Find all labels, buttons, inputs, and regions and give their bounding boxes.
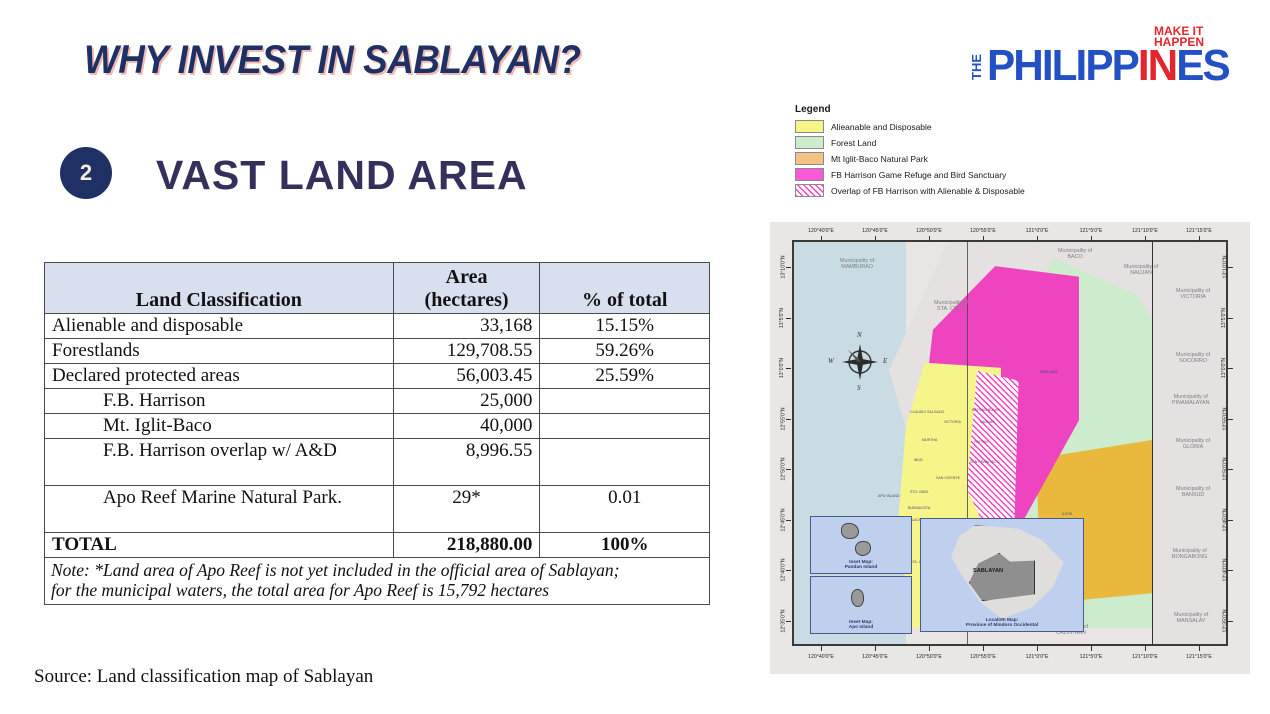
lon-tick-bottom: 120°50'0"E [916,654,942,660]
legend-swatch-icon [795,184,824,197]
table-header-row: Land Classification Area (hectares) % of… [45,263,710,314]
legend-item-label: Mt Iglit-Baco Natural Park [831,154,928,164]
section-number-badge: 2 [60,147,112,199]
legend-title: Legend [795,104,1055,115]
column-header-area-line1: Area [401,266,533,289]
inset-map-pandan-island: Inset Map:Pandan Island [810,516,912,574]
map-barangay-label: STO. NINO [910,490,928,494]
legend-item: Alieanable and Disposable [795,120,1055,133]
cell-percent: 25.59% [540,364,710,389]
lon-tick-bottom: 121°10'0"E [1132,654,1158,660]
logo-wordmark: PHILIPPINES [987,44,1229,88]
cell-area: 8,996.55 [393,439,540,486]
map-barangay-label: PAETAN [974,440,988,444]
cell-percent: 0.01 [540,486,710,533]
map-label-naujan: Municipality ofNAUJAN [1124,264,1158,277]
legend-item: FB Harrison Game Refuge and Bird Sanctua… [795,168,1055,181]
legend-item-label: Forest Land [831,138,876,148]
lon-tick-top: 121°10'0"E [1132,228,1158,234]
legend-item: Forest Land [795,136,1055,149]
land-classification-table: Land Classification Area (hectares) % of… [44,262,710,605]
lon-tick-top: 120°50'0"E [916,228,942,234]
map-barangay-label: VICTORIA [944,420,961,424]
legend-swatch-icon [795,136,824,149]
legend-swatch-icon [795,152,824,165]
page-title: WHY INVEST IN SABLAYAN? [84,38,580,83]
compass-label-n: N [857,331,862,339]
map-label-pinamalayan: Municipality ofPINAMALAYAN [1172,394,1210,407]
compass-rose-icon: N E S W [838,340,882,384]
lon-tick-top: 120°40'0"E [808,228,834,234]
cell-land-classification: Mt. Iglit-Baco [45,414,394,439]
table-note-line1: Note: *Land area of Apo Reef is not yet … [51,560,703,580]
map-barangay-label: CLAUDIO SALGADO [910,410,944,414]
lon-tick-bottom: 120°40'0"E [808,654,834,660]
lon-tick-bottom: 120°45'0"E [862,654,888,660]
cell-area: 33,168 [393,314,540,339]
table-row: Apo Reef Marine Natural Park.29*0.01 [45,486,710,533]
table-body: Alienable and disposable33,16815.15%Fore… [45,314,710,605]
map-barangay-label: APO ISLAND [878,494,900,498]
map-label-socorro: Municipality ofSOCORRO [1176,352,1210,365]
table-note-line2: for the municipal waters, the total area… [51,580,703,600]
legend-item-label: Alieanable and Disposable [831,122,932,132]
table-row: Declared protected areas56,003.4525.59% [45,364,710,389]
cell-land-classification: F.B. Harrison [45,389,394,414]
lon-tick-bottom: 120°55'0"E [970,654,996,660]
lon-tick-top: 121°15'0"E [1186,228,1212,234]
lon-tick-top: 121°5'0"E [1080,228,1103,234]
logo-word-highlight: IN [1138,41,1176,90]
cell-land-classification: Forestlands [45,339,394,364]
cell-percent: 59.26% [540,339,710,364]
brand-logo: THE MAKE IT HAPPEN PHILIPPINES [970,28,1240,86]
cell-percent: 15.15% [540,314,710,339]
map-label-victoria: Municipality ofVICTORIA [1176,288,1210,301]
lat-tick-left: 13°0'0"N [779,358,785,378]
table-source-note: Source: Land classification map of Sabla… [34,666,373,688]
compass-label-e: E [883,357,887,365]
table-row: Alienable and disposable33,16815.15% [45,314,710,339]
cell-land-classification: F.B. Harrison overlap w/ A&D [45,439,394,486]
map-frame: Municipality ofMAMBURAO Municipality ofS… [792,240,1228,646]
table-note: Note: *Land area of Apo Reef is not yet … [45,558,710,605]
cell-area: 40,000 [393,414,540,439]
cell-area: 29* [393,486,540,533]
lon-tick-bottom: 121°0'0"E [1026,654,1049,660]
sablayan-land-classification-map: Municipality ofMAMBURAO Municipality ofS… [770,222,1250,674]
cell-total-area: 218,880.00 [393,533,540,558]
map-label-mansalay: Municipality ofMANSALAY [1174,612,1208,625]
map-barangay-label: LAGNAS [980,420,995,424]
map-barangay-label: ILVITA [1062,512,1072,516]
legend-item-label: FB Harrison Game Refuge and Bird Sanctua… [831,170,1006,180]
lon-tick-top: 120°55'0"E [970,228,996,234]
section-heading: VAST LAND AREA [156,152,528,199]
legend-item: Overlap of FB Harrison with Alienable & … [795,184,1055,197]
map-label-bongabong: Municipality ofBONGABONG [1172,548,1207,561]
map-barangay-label: MURTHA [922,438,937,442]
column-header-area-line2: (hectares) [401,289,533,312]
table-row: Mt. Iglit-Baco40,000 [45,414,710,439]
legend-item-label: Overlap of FB Harrison with Alienable & … [831,186,1025,196]
map-label-bansud: Municipality ofBANSUD [1176,486,1210,499]
lon-tick-top: 120°45'0"E [862,228,888,234]
lon-tick-bottom: 121°5'0"E [1080,654,1103,660]
table-row: F.B. Harrison25,000 [45,389,710,414]
lat-tick-right: 13°5'0"N [1221,308,1227,328]
column-header-area: Area (hectares) [393,263,540,314]
legend-rows: Alieanable and DisposableForest LandMt I… [795,120,1055,197]
table-row: Forestlands129,708.5559.26% [45,339,710,364]
map-label-sta-cruz: Municipality ofSTA. CRUZ [934,300,968,313]
inset-pandan-caption: Inset Map:Pandan Island [811,560,911,571]
sablayan-label: SABLAYAN [973,569,1003,575]
map-legend: Legend Alieanable and DisposableForest L… [795,104,1055,200]
map-barangay-label: BUENAVISTA [908,506,930,510]
map-barangay-label: BATONG BUHAY [972,408,1000,412]
cell-percent [540,439,710,486]
map-label-baco: Municipality ofBACO [1058,248,1092,261]
legend-item: Mt Iglit-Baco Natural Park [795,152,1055,165]
table-note-row: Note: *Land area of Apo Reef is not yet … [45,558,710,605]
map-label-mamburao: Municipality ofMAMBURAO [840,258,874,271]
cell-land-classification: Apo Reef Marine Natural Park. [45,486,394,533]
cell-area: 56,003.45 [393,364,540,389]
column-header-land-classification: Land Classification [45,263,394,314]
lat-tick-left: 13°5'0"N [779,308,785,328]
inset-location-caption: Location Map:Province of Mindoro Occiden… [921,618,1083,629]
column-header-percent: % of total [540,263,710,314]
inset-map-apo-island: Inset Map:Apo Island [810,576,912,634]
logo-the-text: THE [970,54,983,80]
cell-land-classification: Declared protected areas [45,364,394,389]
lon-tick-bottom: 121°15'0"E [1186,654,1212,660]
map-barangay-label: PAGLAUM [1040,370,1057,374]
cell-total-percent: 100% [540,533,710,558]
logo-word-part1: PHILIPP [987,41,1138,90]
logo-word-part2: ES [1176,41,1229,90]
cell-land-classification: Alienable and disposable [45,314,394,339]
lon-tick-top: 121°0'0"E [1026,228,1049,234]
cell-percent [540,414,710,439]
legend-swatch-icon [795,168,824,181]
compass-label-s: S [857,384,861,392]
compass-label-w: W [828,357,834,365]
legend-swatch-icon [795,120,824,133]
map-barangay-label: IBUD [914,458,923,462]
table-total-row: TOTAL218,880.00100% [45,533,710,558]
inset-apo-caption: Inset Map:Apo Island [811,620,911,631]
map-barangay-label: SAN FRANCISCO [970,460,1000,464]
cell-area: 25,000 [393,389,540,414]
lat-tick-right: 13°0'0"N [1221,358,1227,378]
cell-area: 129,708.55 [393,339,540,364]
inset-map-location-mindoro: SABLAYAN Location Map:Province of Mindor… [920,518,1084,632]
table-head: Land Classification Area (hectares) % of… [45,263,710,314]
map-label-gloria: Municipality ofGLORIA [1176,438,1210,451]
table-row: F.B. Harrison overlap w/ A&D8,996.55 [45,439,710,486]
cell-percent [540,389,710,414]
map-barangay-label: SAN VICENTE [936,476,960,480]
cell-total-label: TOTAL [45,533,394,558]
